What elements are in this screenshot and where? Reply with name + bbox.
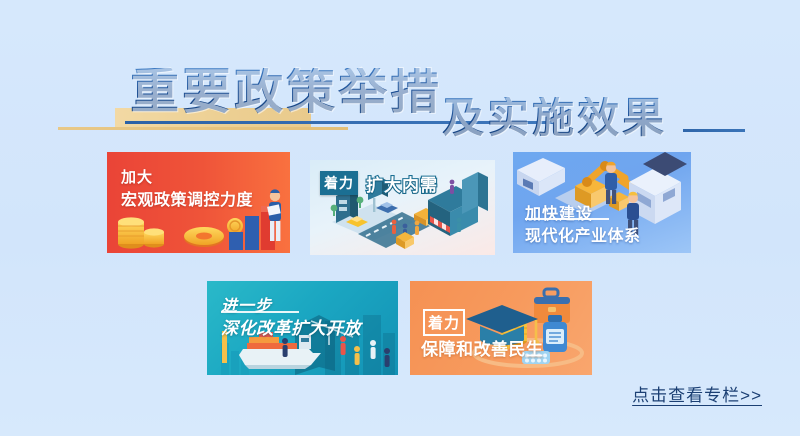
policy-card-macro-control[interactable]: 加大 宏观政策调控力度 bbox=[107, 152, 290, 253]
policy-card-modern-industry[interactable]: 加快建设 现代化产业体系 bbox=[513, 152, 691, 253]
card1-line1: 加大 bbox=[121, 166, 153, 187]
policy-card-reform-opening[interactable]: 进一步 深化改革扩大开放 bbox=[207, 281, 398, 375]
card5-badge-line1: 着力 bbox=[423, 309, 465, 336]
title-gold-rule bbox=[58, 127, 348, 130]
page-header: 重要政策举措 及实施效果 bbox=[0, 28, 800, 136]
card4-underline bbox=[221, 311, 299, 313]
card3-line1: 加快建设 bbox=[525, 200, 593, 224]
view-column-link[interactable]: 点击查看专栏>> bbox=[632, 381, 762, 406]
card3-line2: 现代化产业体系 bbox=[525, 222, 641, 246]
card3-underline bbox=[525, 218, 609, 220]
card1-line2: 宏观政策调控力度 bbox=[121, 186, 253, 210]
page-title: 重要政策举措 bbox=[130, 68, 442, 117]
card2-badge-line1: 着力 bbox=[320, 171, 358, 195]
title-underline-secondary bbox=[683, 129, 745, 132]
card5-line2: 保障和改善民生 bbox=[421, 335, 544, 360]
card2-line2: 扩大内需 bbox=[366, 171, 438, 196]
page-subtitle: 及实施效果 bbox=[442, 97, 667, 139]
poster-root: 重要政策举措 及实施效果 bbox=[0, 0, 800, 436]
policy-card-domestic-demand[interactable]: 着力 扩大内需 bbox=[310, 160, 495, 255]
card4-line2: 深化改革扩大开放 bbox=[221, 314, 361, 339]
policy-card-livelihood[interactable]: 着力 保障和改善民生 bbox=[410, 281, 592, 375]
